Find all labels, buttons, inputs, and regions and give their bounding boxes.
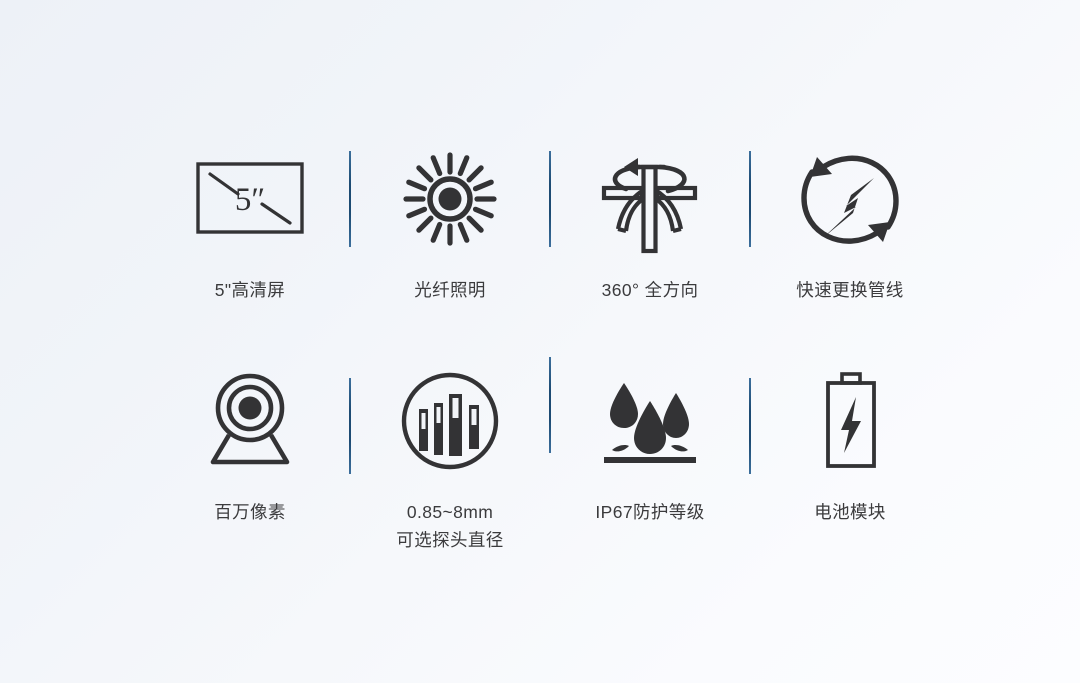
probe-diameter-icon xyxy=(400,362,500,480)
feature-item-ip67: IP67防护等级 xyxy=(550,362,750,526)
feature-label: 百万像素 xyxy=(214,498,286,526)
feature-label: 电池模块 xyxy=(814,498,886,526)
feature-row: 5″ 5"高清屏 xyxy=(150,140,950,304)
feature-item-screen: 5″ 5"高清屏 xyxy=(150,140,350,304)
360-rotation-probe-icon xyxy=(598,140,702,258)
feature-label: 光纤照明 xyxy=(414,276,486,304)
fiber-illumination-sun-icon xyxy=(400,140,500,258)
feature-item-battery: 电池模块 xyxy=(750,362,950,526)
feature-row: 百万像素 xyxy=(150,362,950,554)
feature-label: 5"高清屏 xyxy=(215,276,285,304)
column-divider xyxy=(749,151,751,247)
feature-board: 5″ 5"高清屏 xyxy=(0,0,1080,683)
battery-module-icon xyxy=(815,362,885,480)
column-divider xyxy=(749,378,751,474)
feature-item-megapixel: 百万像素 xyxy=(150,362,350,526)
screen-5-inch-icon: 5″ xyxy=(194,140,306,258)
column-divider xyxy=(549,357,551,453)
feature-label: 快速更换管线 xyxy=(796,276,903,304)
quick-change-cable-icon xyxy=(796,140,904,258)
column-divider xyxy=(349,378,351,474)
megapixel-camera-icon xyxy=(200,362,300,480)
waterproof-droplets-icon xyxy=(598,362,702,480)
feature-item-illumination: 光纤照明 xyxy=(350,140,550,304)
feature-label: 360° 全方向 xyxy=(602,276,699,304)
feature-item-360: 360° 全方向 xyxy=(550,140,750,304)
feature-item-probe-diameter: 0.85~8mm 可选探头直径 xyxy=(350,362,550,554)
feature-item-quick-change: 快速更换管线 xyxy=(750,140,950,304)
feature-grid: 5″ 5"高清屏 xyxy=(150,140,950,554)
feature-label: IP67防护等级 xyxy=(595,498,704,526)
column-divider xyxy=(349,151,351,247)
feature-label: 0.85~8mm 可选探头直径 xyxy=(396,498,503,554)
column-divider xyxy=(549,151,551,247)
svg-text:5″: 5″ xyxy=(235,182,265,218)
